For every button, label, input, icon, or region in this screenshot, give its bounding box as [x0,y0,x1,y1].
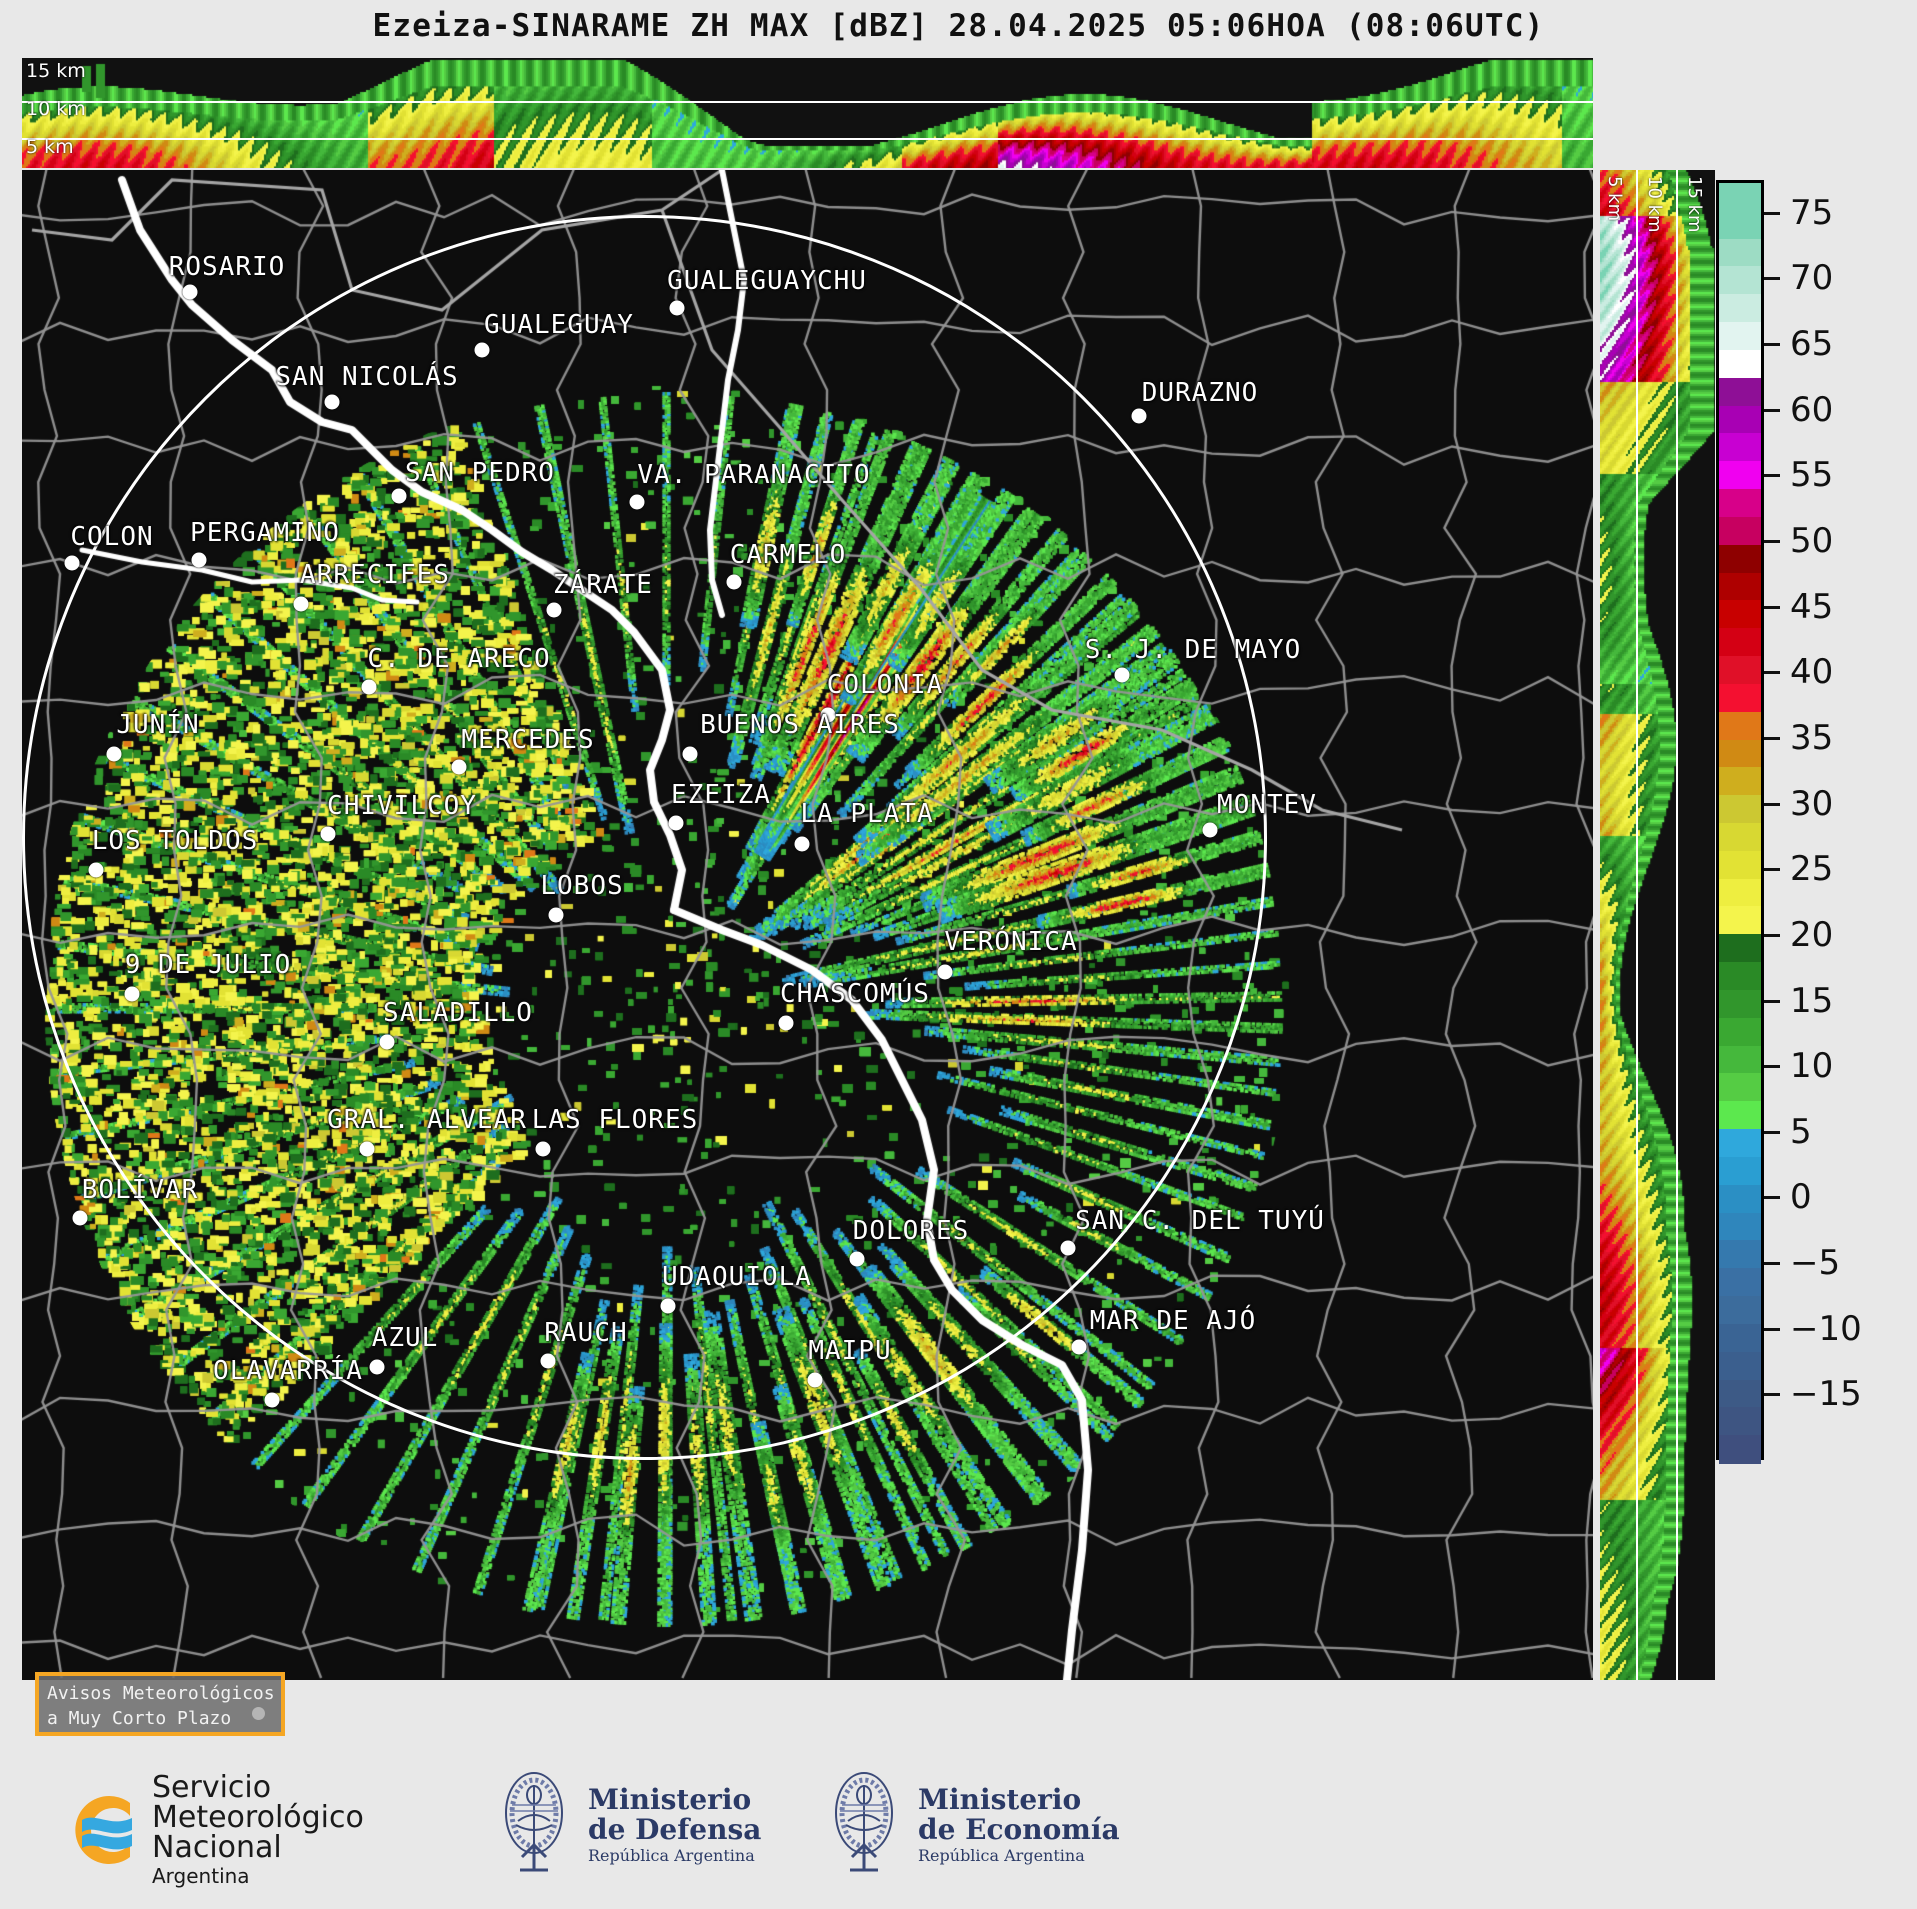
colorbar-tick [1764,1328,1780,1331]
mindef-line-1: Ministerio [588,1785,761,1814]
city-label: BUENOS AIRES [700,710,900,740]
city-marker-dot [370,1360,385,1375]
colorbar-tick [1764,540,1780,543]
colorbar-segment [1719,573,1761,602]
city-marker-dot [1072,1340,1087,1355]
colorbar-segment [1719,656,1761,685]
colorbar-segment [1719,600,1761,629]
mineco-line-3: República Argentina [918,1848,1120,1865]
city-label: LOS TOLDOS [92,826,259,856]
smn-line-2: Meteorológico [152,1803,364,1833]
colorbar-segment [1719,934,1761,963]
city-marker-dot [1115,668,1130,683]
city-marker-dot [380,1035,395,1050]
colorbar-tick [1764,1131,1780,1134]
colorbar-segment [1719,740,1761,769]
colorbar-tick [1764,1000,1780,1003]
smn-c-wave-icon [52,1787,138,1873]
colorbar-segment [1719,1435,1761,1464]
colorbar-segment [1719,1268,1761,1297]
colorbar-segment [1719,628,1761,657]
cross-section-right-canvas [1600,170,1715,1680]
colorbar-segment [1719,1157,1761,1186]
colorbar-tick-label: 70 [1790,258,1833,298]
colorbar-segment [1719,1185,1761,1214]
city-label: OLAVARRÍA [213,1356,363,1386]
colorbar-segment [1719,211,1761,240]
colorbar-tick-label: 0 [1790,1177,1812,1217]
city-marker-dot [549,908,564,923]
colorbar-tick [1764,934,1780,937]
altitude-label-10km: 10 km [26,98,86,120]
cross-section-top-panel: 15 km 10 km 5 km [22,58,1593,168]
city-label: SAN PEDRO [405,458,555,488]
colorbar-tick-label: −5 [1790,1243,1840,1283]
smn-logo-text: Servicio Meteorológico Nacional Argentin… [152,1773,364,1886]
colorbar-segment [1719,406,1761,435]
smn-line-4: Argentina [152,1866,364,1886]
cross-section-right-panel: 5 km 10 km 15 km [1600,170,1715,1680]
city-marker-dot [536,1142,551,1157]
smn-line-3: Nacional [152,1833,364,1863]
city-label: MAIPU [808,1336,891,1366]
altitude-label-10km-v: 10 km [1644,176,1665,233]
colorbar-segment [1719,239,1761,268]
colorbar-segment [1719,851,1761,880]
city-label: C. DE ARECO [367,644,550,674]
colorbar-segment [1719,1129,1761,1158]
city-label: 9 DE JULIO [125,950,292,980]
city-label: DURAZNO [1142,378,1259,408]
city-marker-dot [938,965,953,980]
city-marker-dot [452,760,467,775]
city-marker-dot [630,495,645,510]
colorbar-segment [1719,1324,1761,1353]
altitude-label-5km: 5 km [26,136,74,158]
colorbar-segment [1719,1018,1761,1047]
colorbar-tick-label: 75 [1790,193,1833,233]
city-marker-dot [360,1142,375,1157]
city-label: MONTEV [1217,790,1317,820]
city-label: VA. PARANACITO [637,460,870,490]
colorbar-tick-label: 10 [1790,1046,1833,1086]
city-label: ROSARIO [169,252,286,282]
colorbar-tick-label: 55 [1790,455,1833,495]
city-label: LA PLATA [800,799,933,829]
city-label: GRAL. ALVEAR [327,1105,527,1135]
city-label: COLON [70,522,153,552]
colorbar-tick-label: 45 [1790,587,1833,627]
colorbar-tick-label: −15 [1790,1374,1862,1414]
colorbar-tick [1764,1065,1780,1068]
city-marker-dot [779,1016,794,1031]
colorbar-tick-label: 25 [1790,849,1833,889]
mineco-line-1: Ministerio [918,1785,1120,1814]
city-marker-dot [183,285,198,300]
colorbar-segment [1719,545,1761,574]
colorbar-tick [1764,737,1780,740]
city-marker-dot [107,747,122,762]
colorbar-segment [1719,1407,1761,1436]
mineco-line-2: de Economía [918,1815,1120,1844]
colorbar-tick-label: 40 [1790,652,1833,692]
colorbar-tick [1764,1262,1780,1265]
colorbar-segment [1719,1046,1761,1075]
city-label: RAUCH [544,1318,627,1348]
city-label: BOLÍVAR [82,1175,199,1205]
colorbar-segment [1719,712,1761,741]
altitude-line-5km-v [1636,170,1638,1680]
colorbar-segment [1719,906,1761,935]
city-marker-dot [541,1354,556,1369]
colorbar-segment [1719,1073,1761,1102]
colorbar-segment [1719,461,1761,490]
avisos-line-1: Avisos Meteorológicos [47,1681,273,1706]
colorbar-tick-label: 50 [1790,521,1833,561]
colorbar-gradient [1716,180,1764,1460]
reflectivity-colorbar: 757065605550454035302520151050−5−10−15 [1716,180,1906,1460]
avisos-line-2: a Muy Corto Plazo [47,1706,273,1731]
altitude-line-5km [22,138,1593,140]
colorbar-segment [1719,1101,1761,1130]
city-label: LAS FLORES [532,1105,699,1135]
colorbar-segment [1719,767,1761,796]
city-marker-dot [1203,823,1218,838]
colorbar-tick-label: 65 [1790,324,1833,364]
city-marker-dot [808,1373,823,1388]
ministerio-defensa-text: Ministerio de Defensa República Argentin… [588,1785,761,1865]
colorbar-tick-label: −10 [1790,1309,1862,1349]
colorbar-tick [1764,277,1780,280]
city-label: S. J. DE MAYO [1085,635,1302,665]
colorbar-tick-label: 60 [1790,390,1833,430]
colorbar-tick-label: 20 [1790,915,1833,955]
city-marker-dot [65,556,80,571]
colorbar-segment [1719,433,1761,462]
city-label: MAR DE AJÓ [1090,1306,1257,1336]
colorbar-tick [1764,409,1780,412]
smn-line-1: Servicio [152,1773,364,1803]
city-label: SAN C. DEL TUYÚ [1075,1206,1325,1236]
colorbar-segment [1719,684,1761,713]
colorbar-tick-label: 15 [1790,981,1833,1021]
colorbar-tick [1764,1196,1780,1199]
mindef-line-3: República Argentina [588,1848,761,1865]
colorbar-segment [1719,350,1761,379]
altitude-label-15km-v: 15 km [1684,176,1705,233]
city-label: COLONIA [827,670,944,700]
page-title: Ezeiza-SINARAME ZH MAX [dBZ] 28.04.2025 … [0,8,1917,44]
city-label: EZEIZA [671,780,771,810]
colorbar-segment [1719,489,1761,518]
altitude-label-5km-v: 5 km [1604,176,1625,221]
colorbar-segment [1719,378,1761,407]
city-label: GUALEGUAYCHU [667,266,867,296]
city-marker-dot [321,827,336,842]
city-marker-dot [850,1252,865,1267]
city-label: CARMELO [730,540,847,570]
smn-mark-icon [52,1787,138,1873]
colorbar-tick [1764,474,1780,477]
colorbar-segment [1719,823,1761,852]
city-marker-dot [795,837,810,852]
colorbar-segment [1719,517,1761,546]
footer-logos-bar: Servicio Meteorológico Nacional Argentin… [0,1745,1917,1909]
city-marker-dot [362,680,377,695]
city-marker-dot [1061,1241,1076,1256]
altitude-line-10km-v [1676,170,1678,1680]
colorbar-segment [1719,962,1761,991]
city-marker-dot [392,489,407,504]
city-marker-dot [669,816,684,831]
colorbar-segment [1719,322,1761,351]
city-marker-dot [325,395,340,410]
city-label: GUALEGUAY [484,310,634,340]
city-label: LOBOS [540,871,623,901]
colorbar-tick-label: 30 [1790,784,1833,824]
colorbar-tick [1764,606,1780,609]
cross-section-top-canvas [22,58,1593,168]
colorbar-tick [1764,803,1780,806]
smn-logo: Servicio Meteorológico Nacional Argentin… [52,1773,364,1886]
colorbar-segment [1719,1296,1761,1325]
colorbar-tick [1764,671,1780,674]
city-marker-dot [265,1393,280,1408]
city-label: CHIVILCOY [327,791,477,821]
city-label: CHASCOMÚS [780,979,930,1009]
colorbar-tick-label: 5 [1790,1112,1812,1152]
ministerio-economia-logo: Ministerio de Economía República Argenti… [820,1765,1120,1885]
city-label: PERGAMINO [190,518,340,548]
colorbar-segment [1719,879,1761,908]
colorbar-tick-labels: 757065605550454035302520151050−5−10−15 [1764,180,1914,1460]
city-marker-dot [1132,409,1147,424]
city-label: AZUL [372,1323,439,1353]
colorbar-tick [1764,1393,1780,1396]
ministerio-economia-text: Ministerio de Economía República Argenti… [918,1785,1120,1865]
argentina-coat-of-arms-icon [490,1765,578,1885]
argentina-coat-of-arms-icon [820,1765,908,1885]
avisos-meteorologicos-badge[interactable]: Avisos Meteorológicos a Muy Corto Plazo [35,1672,285,1736]
city-label: MERCEDES [461,725,594,755]
colorbar-segment [1719,795,1761,824]
city-marker-dot [125,987,140,1002]
city-label: SAN NICOLÁS [275,362,458,392]
colorbar-segment [1719,266,1761,295]
city-marker-dot [727,575,742,590]
city-marker-dot [547,603,562,618]
mindef-line-2: de Defensa [588,1815,761,1844]
city-label: DOLORES [853,1216,970,1246]
ministerio-defensa-logo: Ministerio de Defensa República Argentin… [490,1765,761,1885]
city-marker-dot [294,597,309,612]
city-marker-dot [89,863,104,878]
city-label: UDAQUIOLA [662,1262,812,1292]
city-label: VERÓNICA [944,927,1077,957]
city-marker-dot [73,1211,88,1226]
colorbar-segment [1719,1240,1761,1269]
altitude-line-10km [22,101,1593,103]
city-marker-dot [683,747,698,762]
colorbar-segment [1719,990,1761,1019]
city-label: ZÁRATE [553,570,653,600]
city-marker-dot [192,553,207,568]
city-marker-dot [475,343,490,358]
city-marker-dot [661,1299,676,1314]
city-label: JUNÍN [116,710,199,740]
colorbar-segment [1719,294,1761,323]
colorbar-tick [1764,868,1780,871]
colorbar-tick [1764,212,1780,215]
colorbar-segment [1719,1352,1761,1381]
city-label: ARRECIFES [300,560,450,590]
colorbar-tick [1764,343,1780,346]
city-marker-dot [670,301,685,316]
colorbar-segment [1719,1380,1761,1409]
city-label: SALADILLO [383,998,533,1028]
altitude-label-15km: 15 km [26,60,86,82]
avisos-status-dot [252,1707,265,1720]
colorbar-segment [1719,1213,1761,1242]
colorbar-tick-label: 35 [1790,718,1833,758]
colorbar-segment [1719,183,1761,212]
